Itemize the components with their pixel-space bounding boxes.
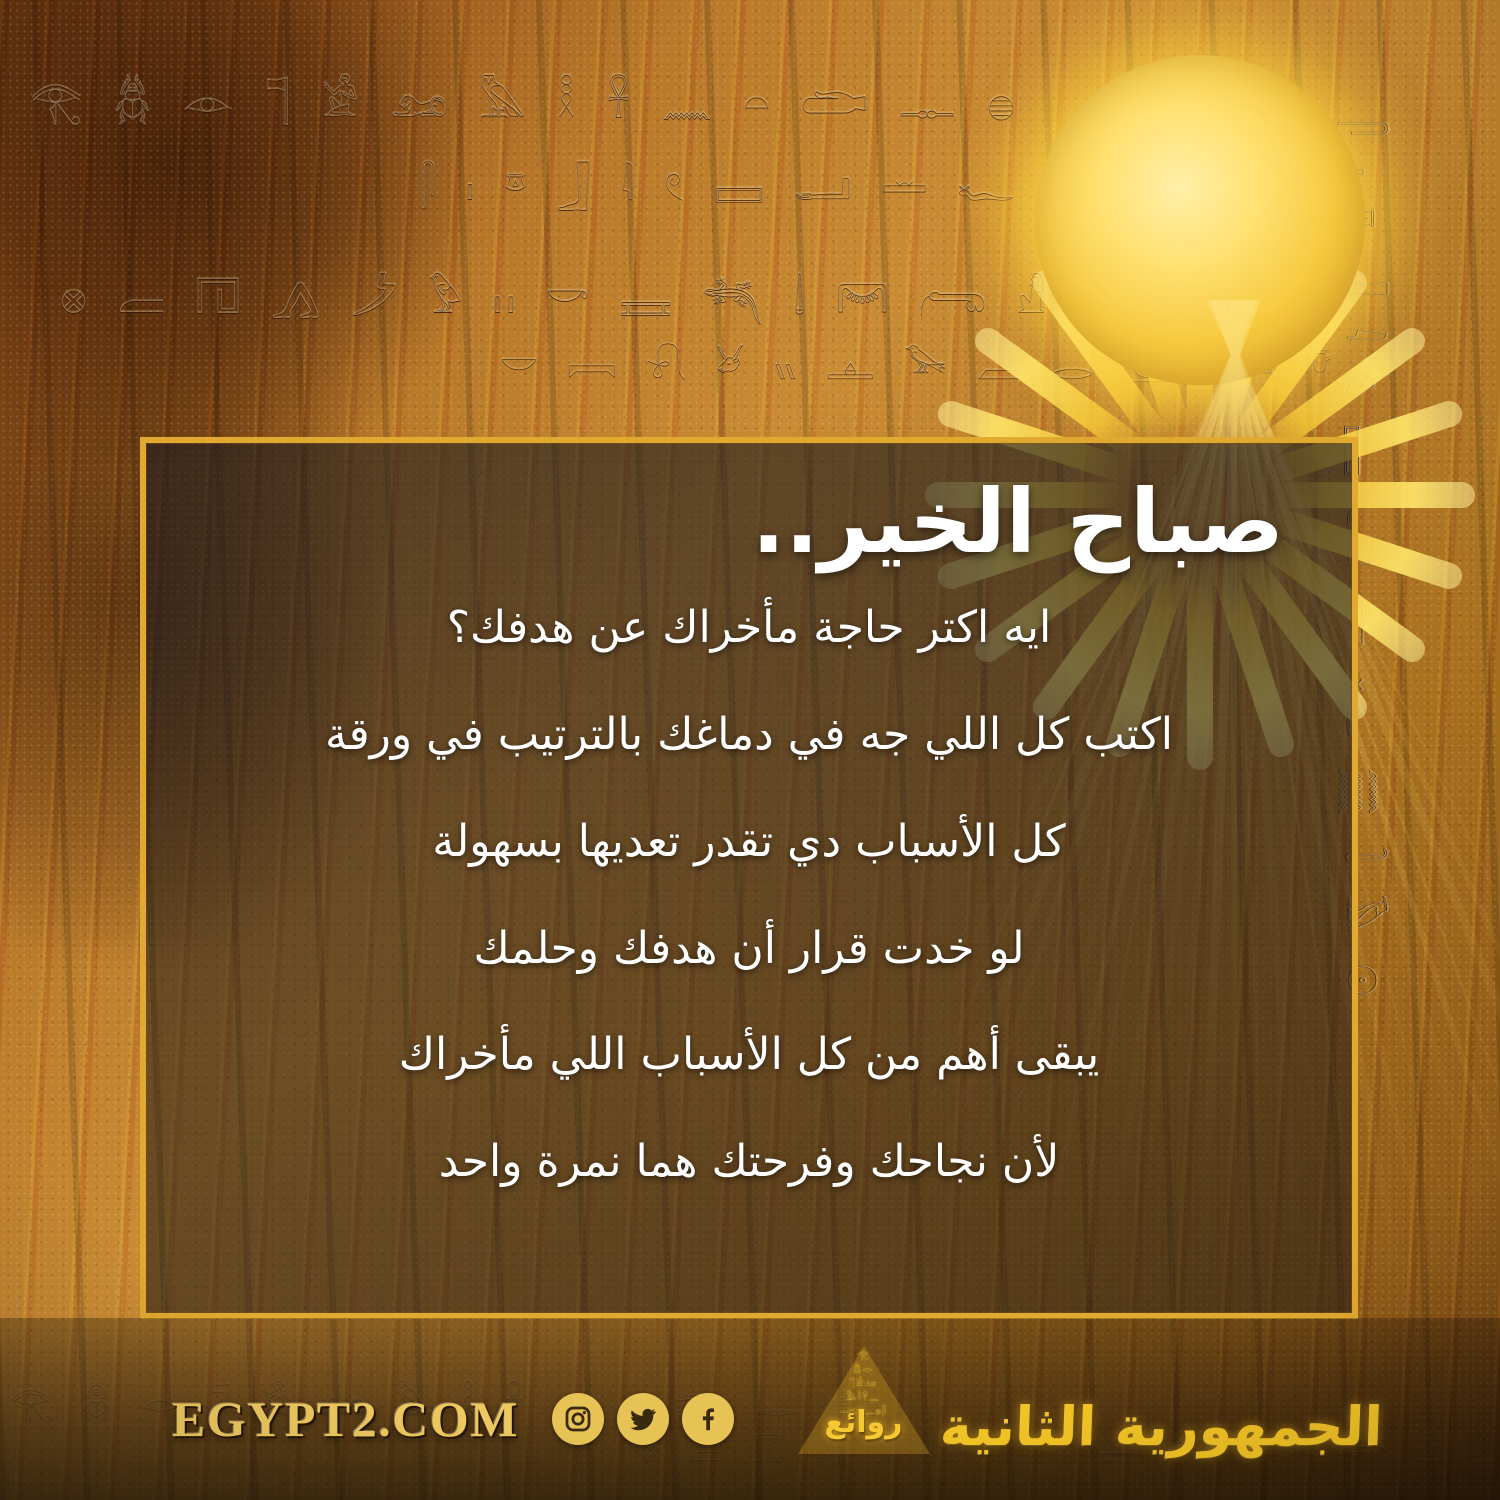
website-label[interactable]: EGYPT2.COM bbox=[172, 1390, 539, 1448]
pyramid-glyph-row: 𓅓𓎛𓋹𓈖 bbox=[798, 1388, 930, 1403]
quote-panel: صباح الخير.. ايه اكتر حاجة مأخراك عن هدف… bbox=[140, 437, 1358, 1319]
quote-panel-inner: صباح الخير.. ايه اكتر حاجة مأخراك عن هدف… bbox=[146, 443, 1352, 1313]
quote-line: اكتب كل اللي جه في دماغك بالترتيب في ورق… bbox=[188, 709, 1310, 762]
quote-line: لو خدت قرار أن هدفك وحلمك bbox=[188, 923, 1310, 976]
pyramid-glyph-row: 𓂀 bbox=[798, 1346, 930, 1361]
pyramid-glyph-row: 𓆣𓁹 bbox=[798, 1360, 930, 1375]
quote-line: كل الأسباب دي تقدر تعديها بسهولة bbox=[188, 816, 1310, 869]
quote-lines: ايه اكتر حاجة مأخراك عن هدفك؟ اكتب كل ال… bbox=[188, 602, 1310, 1189]
social-links: EGYPT2.COM bbox=[172, 1390, 734, 1448]
instagram-icon[interactable] bbox=[552, 1393, 604, 1445]
page-title: صباح الخير.. bbox=[188, 469, 1310, 568]
twitter-icon[interactable] bbox=[617, 1393, 669, 1445]
quote-line: لأن نجاحك وفرحتك هما نمرة واحد bbox=[188, 1136, 1310, 1189]
quote-line: يبقى أهم من كل الأسباب اللي مأخراك bbox=[188, 1029, 1310, 1082]
pyramid-logo-icon: 𓂀 𓆣𓁹 𓊹𓀀𓃭 𓅓𓎛𓋹𓈖 𓏏𓂧𓊃𓐍𓋴 روائع bbox=[798, 1342, 930, 1454]
pyramid-logo-word: روائع bbox=[798, 1405, 930, 1440]
facebook-icon[interactable] bbox=[682, 1393, 734, 1445]
pyramid-glyph-row: 𓊹𓀀𓃭 bbox=[798, 1374, 930, 1389]
brand-name: الجمهورية الثانية bbox=[939, 1400, 1383, 1454]
brand-lockup: الجمهورية الثانية 𓂀 𓆣𓁹 𓊹𓀀𓃭 𓅓𓎛𓋹𓈖 𓏏𓂧𓊃𓐍𓋴 رو… bbox=[798, 1342, 1383, 1454]
quote-line: ايه اكتر حاجة مأخراك عن هدفك؟ bbox=[188, 602, 1310, 655]
glyph-row: 𓂀 𓆣 𓁹 𓊹 𓀀 𓃭 𓅓 𓎛 𓋹 𓈖 𓏏 𓂧 𓊃 𓐍 bbox=[30, 60, 1024, 130]
poster-canvas: 𓂀 𓆣 𓁹 𓊹 𓀀 𓃭 𓅓 𓎛 𓋹 𓈖 𓏏 𓂧 𓊃 𓐍 𓋴 𓏤 𓎼 𓃀 𓇋 𓏲 … bbox=[0, 0, 1500, 1500]
